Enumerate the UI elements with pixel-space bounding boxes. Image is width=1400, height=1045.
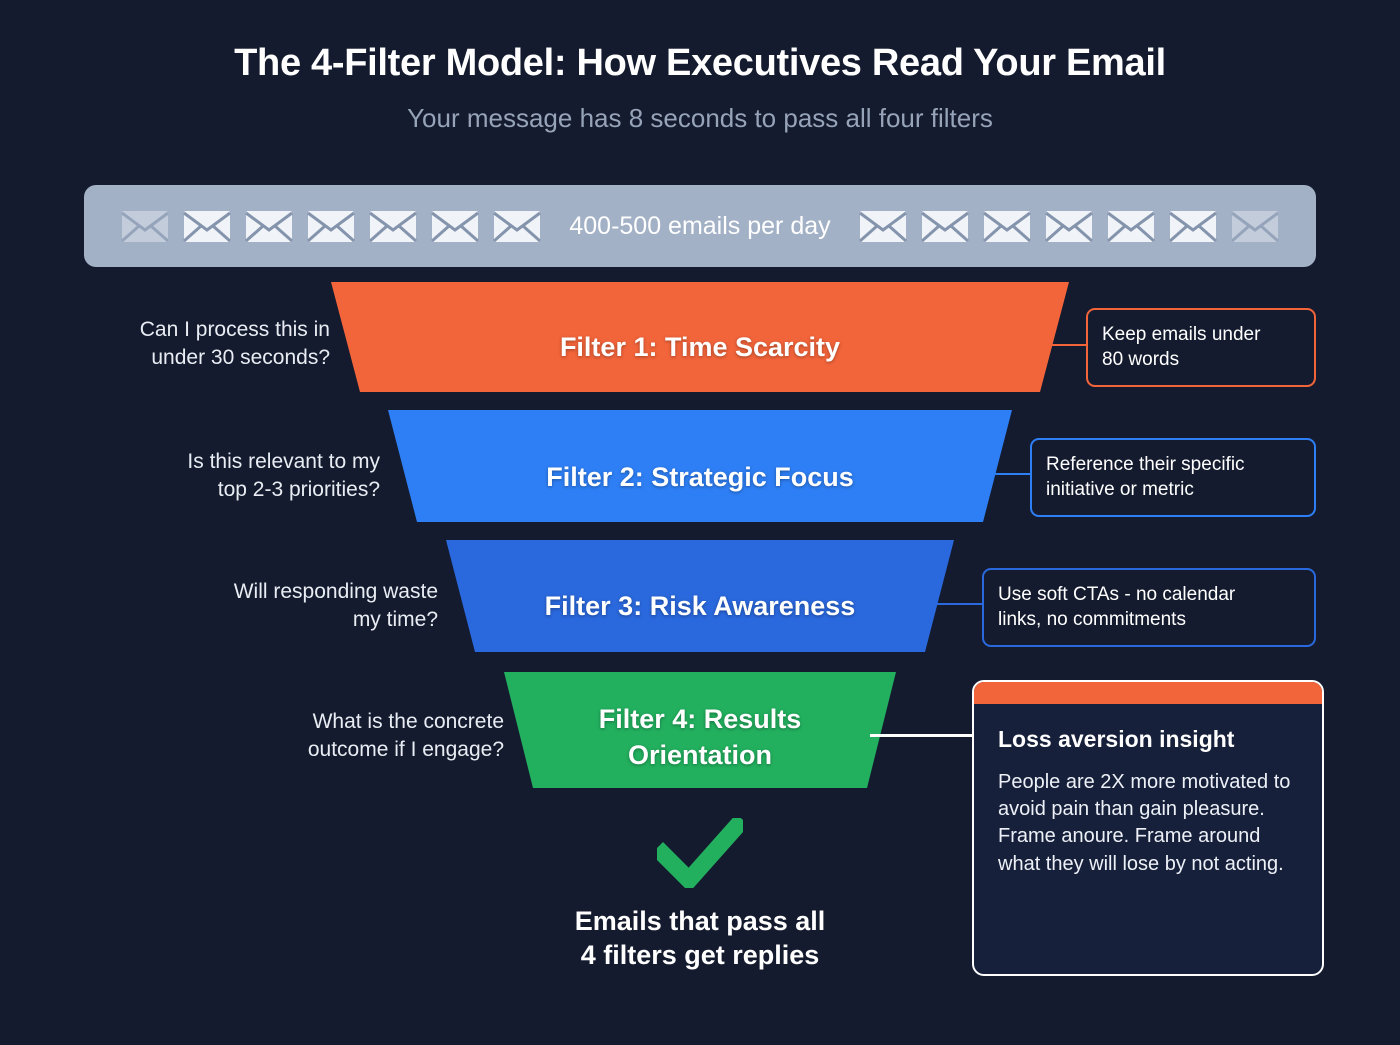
connector-tip-2 (986, 473, 1032, 475)
envelope-icon (307, 210, 355, 243)
insight-card-accent-bar (974, 682, 1322, 704)
tip-box-3: Use soft CTAs - no calendar links, no co… (982, 568, 1316, 647)
check-icon (657, 818, 743, 888)
insight-card-body: Loss aversion insight People are 2X more… (974, 704, 1322, 878)
envelope-icon (121, 210, 169, 243)
envelope-icon (1045, 210, 1093, 243)
envelope-icon (183, 210, 231, 243)
connector-insight-card (870, 734, 974, 737)
connector-tip-1 (1043, 344, 1089, 346)
tip-box-3-text: Use soft CTAs - no calendar links, no co… (998, 584, 1235, 630)
tip-box-1-text: Keep emails under 80 words (1102, 324, 1260, 370)
insight-card-title: Loss aversion insight (998, 726, 1298, 753)
tip-box-2-text: Reference their specific initiative or m… (1046, 454, 1245, 500)
header: The 4-Filter Model: How Executives Read … (0, 0, 1400, 134)
funnel-question-2: Is this relevant to my top 2-3 prioritie… (110, 448, 380, 504)
funnel-question-1: Can I process this in under 30 seconds? (60, 316, 330, 372)
envelope-icon (1107, 210, 1155, 243)
connector-tip-3 (928, 603, 983, 605)
funnel-question-4: What is the concrete outcome if I engage… (228, 708, 504, 764)
funnel-question-3: Will responding waste my time? (168, 578, 438, 634)
envelope-icon (245, 210, 293, 243)
insight-card: Loss aversion insight People are 2X more… (972, 680, 1324, 976)
envelope-icon (983, 210, 1031, 243)
email-volume-label: 400-500 emails per day (555, 212, 844, 241)
page-subtitle: Your message has 8 seconds to pass all f… (0, 103, 1400, 134)
envelope-icon (921, 210, 969, 243)
outcome-label: Emails that pass all 4 filters get repli… (430, 904, 970, 973)
outcome-block: Emails that pass all 4 filters get repli… (430, 818, 970, 973)
page-title: The 4-Filter Model: How Executives Read … (0, 42, 1400, 85)
tip-box-1: Keep emails under 80 words (1086, 308, 1316, 387)
insight-card-text: People are 2X more motivated to avoid pa… (998, 769, 1298, 878)
envelope-icon (1169, 210, 1217, 243)
envelope-icon (859, 210, 907, 243)
envelope-icon (431, 210, 479, 243)
envelope-icon (1231, 210, 1279, 243)
tip-box-2: Reference their specific initiative or m… (1030, 438, 1316, 517)
envelope-icon (369, 210, 417, 243)
email-volume-bar: 400-500 emails per day (84, 185, 1316, 267)
envelope-icon (493, 210, 541, 243)
